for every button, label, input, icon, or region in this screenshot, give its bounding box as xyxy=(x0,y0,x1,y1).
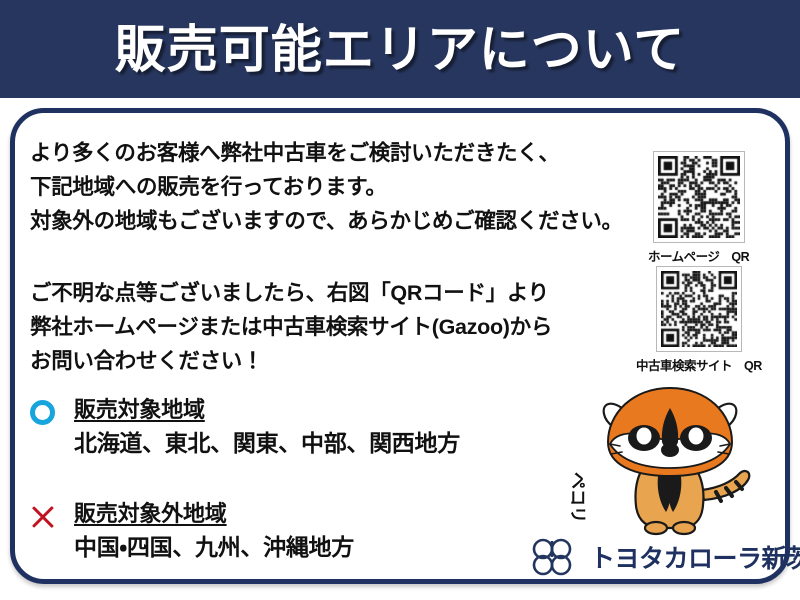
qr-block-used-car-search[interactable]: 中古車検索サイト QR xyxy=(636,266,762,374)
header-band: 販売可能エリアについて xyxy=(0,0,800,98)
page-title: 販売可能エリアについて xyxy=(115,24,685,75)
area-heading-excluded: 販売対象外地域 xyxy=(74,500,227,527)
cross-icon xyxy=(30,500,74,530)
company-logo: トヨタカローラ新茨城 xyxy=(528,535,800,579)
area-row-excluded: 販売対象外地域 中国・四国、九州、沖縄地方 xyxy=(30,500,354,564)
qr-code-icon[interactable] xyxy=(656,266,742,352)
area-regions-supported: 北海道、東北、関東、中部、関西地方 xyxy=(74,426,460,460)
qr-block-homepage[interactable]: ホームページ QR xyxy=(648,151,749,265)
contact-line-3: お問い合わせください！ xyxy=(30,344,552,378)
area-row-supported: 販売対象地域 北海道、東北、関東、中部、関西地方 xyxy=(30,396,460,460)
qr-code-icon[interactable] xyxy=(653,151,745,243)
intro-line-1: より多くのお客様へ弊社中古車をご検討いただきたく、 xyxy=(30,136,623,170)
toyota-corolla-pinwheel-icon xyxy=(528,535,580,579)
logo-text: トヨタカローラ新茨城 xyxy=(590,539,800,575)
mascot-label: ペコリ xyxy=(567,472,592,523)
intro-paragraph: より多くのお客様へ弊社中古車をご検討いただきたく、 下記地域への販売を行っており… xyxy=(30,136,623,238)
intro-line-2: 下記地域への販売を行っております。 xyxy=(30,170,623,204)
qr-code-image xyxy=(661,271,737,347)
contact-line-2: 弊社ホームページまたは中古車検索サイト(Gazoo)から xyxy=(30,310,552,344)
intro-line-3: 対象外の地域もございますので、あらかじめご確認ください。 xyxy=(30,204,623,238)
red-panda-mascot-icon xyxy=(576,372,766,540)
contact-line-1: ご不明な点等ございましたら、右図「QRコード」より xyxy=(30,276,552,310)
circle-icon xyxy=(30,396,74,425)
area-heading-supported: 販売対象地域 xyxy=(74,396,205,423)
contact-paragraph: ご不明な点等ございましたら、右図「QRコード」より 弊社ホームページまたは中古車… xyxy=(30,276,552,378)
area-regions-excluded: 中国・四国、九州、沖縄地方 xyxy=(74,530,354,564)
qr-code-image xyxy=(658,156,740,238)
qr-caption-homepage: ホームページ QR xyxy=(648,246,749,265)
